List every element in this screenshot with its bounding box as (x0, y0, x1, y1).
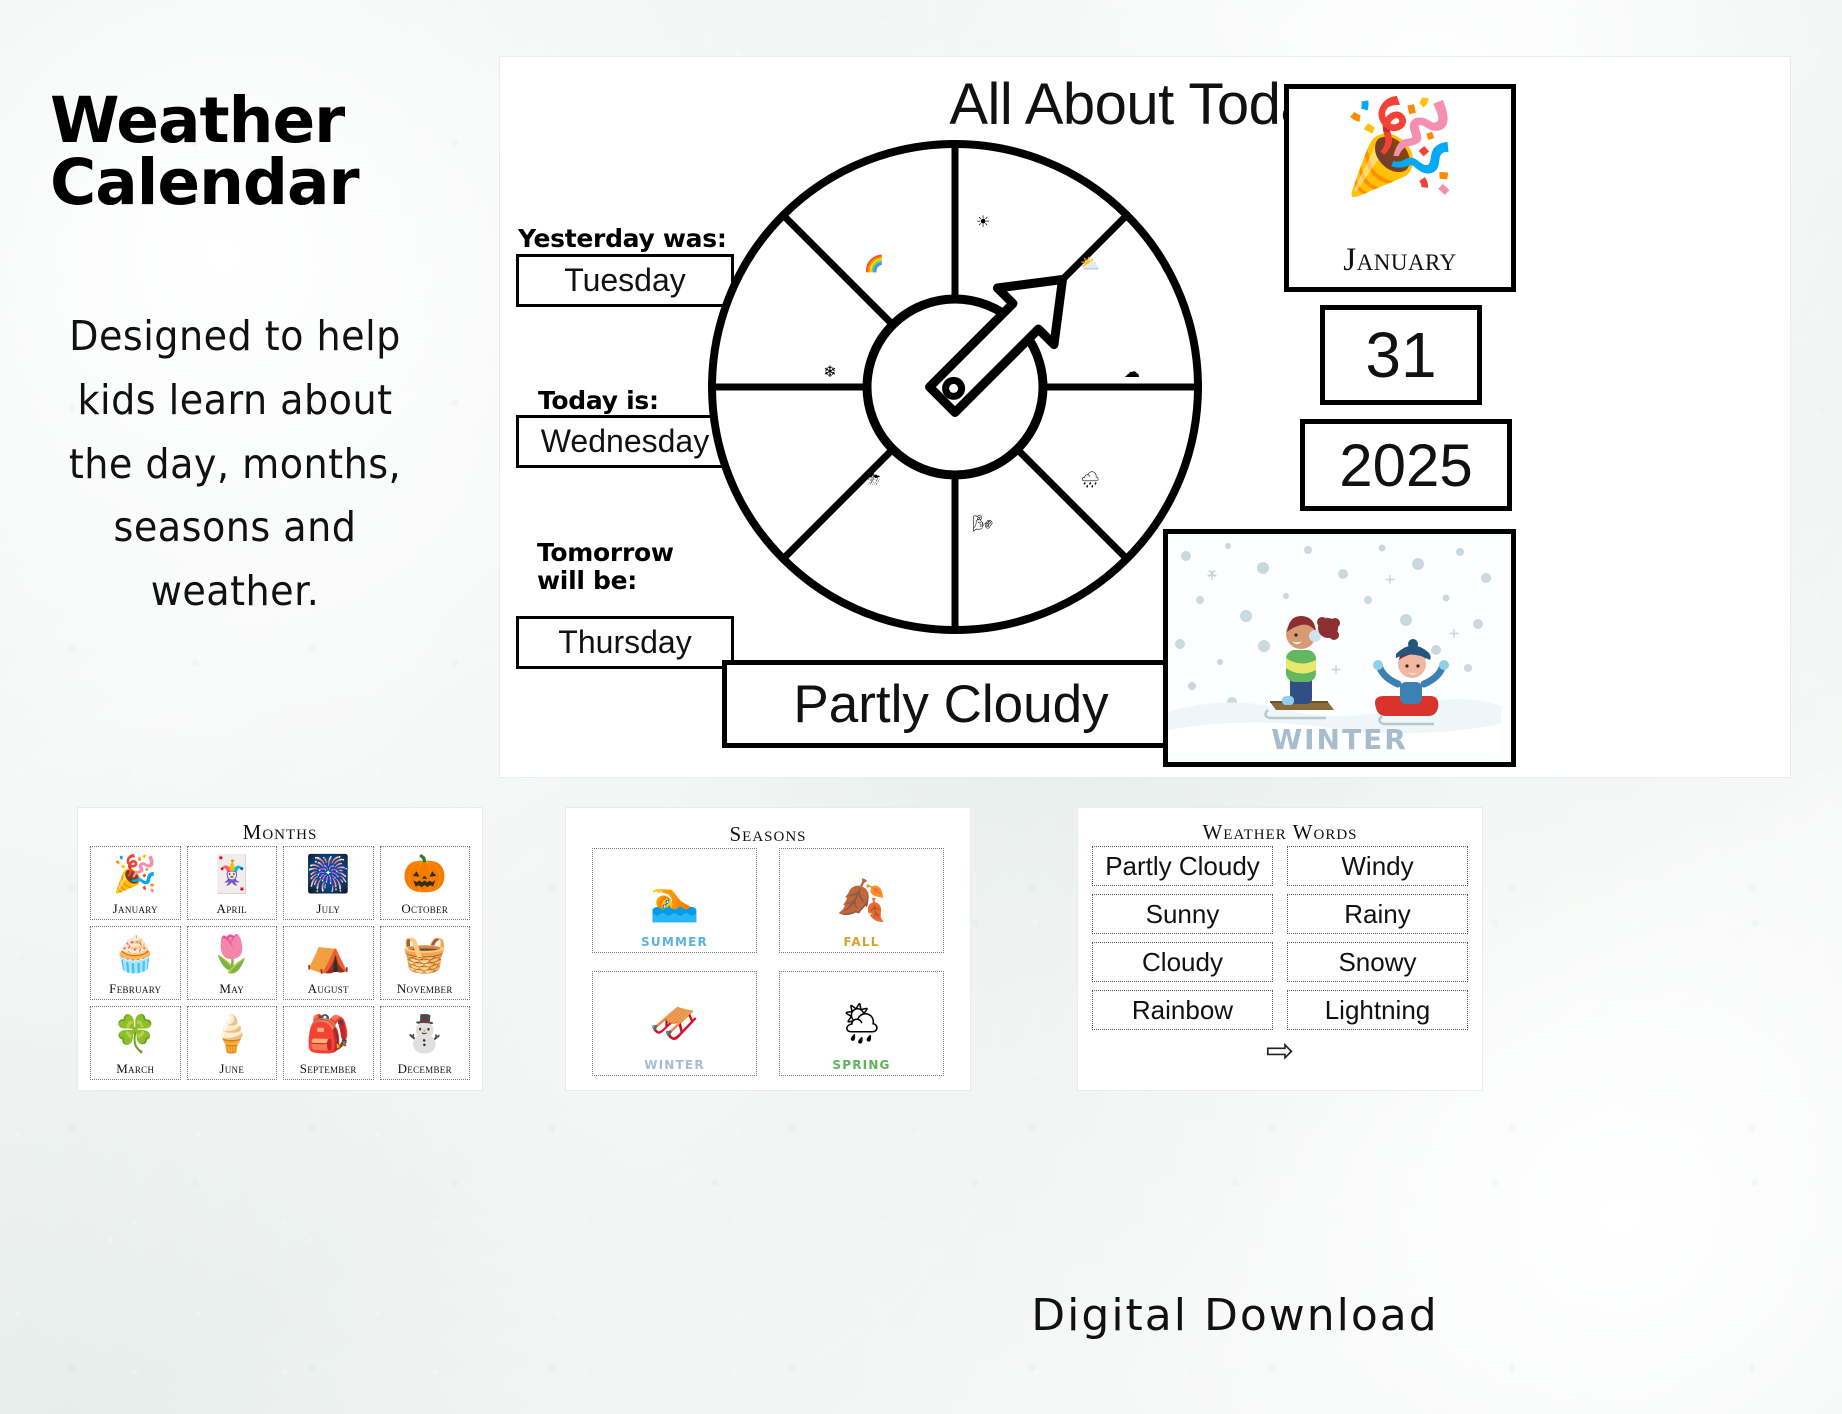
weather-words-grid: Partly Cloudy Windy Sunny Rainy Cloudy S… (1092, 846, 1468, 1030)
today-value[interactable]: Wednesday (516, 415, 734, 468)
months-panel: Months 🎉January 🃏April 🎆July 🎃October 🧁F… (78, 808, 482, 1090)
months-panel-title: Months (78, 820, 482, 845)
today-label: Today is: (538, 387, 659, 415)
month-cell[interactable]: 🎉January (90, 846, 181, 920)
yesterday-value[interactable]: Tuesday (516, 254, 734, 307)
month-cell[interactable]: 🍦June (187, 1006, 278, 1080)
month-icon: ⛄ (402, 1007, 447, 1061)
spring-icon: 🌦 (836, 1004, 887, 1044)
months-grid: 🎉January 🃏April 🎆July 🎃October 🧁February… (90, 846, 470, 1080)
seasons-panel-title: Seasons (566, 822, 970, 847)
weather-words-panel: Weather Words Partly Cloudy Windy Sunny … (1078, 808, 1482, 1090)
month-cell[interactable]: 🎆July (283, 846, 374, 920)
wheel-icon-rainbow: 🌈 (819, 209, 929, 319)
winter-icon: 🛷 (650, 1004, 700, 1044)
day-number-box[interactable]: 31 (1320, 305, 1482, 405)
yesterday-label: Yesterday was: (518, 225, 727, 253)
month-icon: 🍦 (209, 1007, 254, 1061)
month-icon: ⛺ (306, 927, 351, 981)
wheel-icon-snowy: ❄ (775, 317, 885, 427)
weather-word-card[interactable]: Snowy (1287, 942, 1468, 982)
wheel-icon-partly-cloudy: ⛅ (1035, 209, 1145, 319)
month-icon: 🎃 (402, 847, 447, 901)
month-cell-label: August (308, 981, 349, 997)
year-box[interactable]: 2025 (1300, 419, 1512, 511)
party-popper-icon: 🎉 (1289, 101, 1511, 193)
month-cell-label: June (219, 1061, 244, 1077)
weather-word-card[interactable]: Cloudy (1092, 942, 1273, 982)
month-cell-label: September (300, 1061, 357, 1077)
weather-word-card[interactable]: Lightning (1287, 990, 1468, 1030)
season-cell[interactable]: 🍂FALL (779, 848, 944, 953)
month-cell[interactable]: ⛄December (380, 1006, 471, 1080)
page-title: Weather Calendar (0, 90, 470, 213)
weather-result-box[interactable]: Partly Cloudy (722, 660, 1180, 748)
month-cell-label: October (401, 901, 448, 917)
weather-word-card[interactable]: Windy (1287, 846, 1468, 886)
month-label: January (1289, 242, 1511, 279)
month-cell-label: February (109, 981, 161, 997)
month-cell[interactable]: 🎒September (283, 1006, 374, 1080)
tomorrow-label: Tomorrow will be: (537, 539, 674, 595)
month-cell-label: July (316, 901, 340, 917)
month-cell[interactable]: 🧁February (90, 926, 181, 1000)
month-cell-label: April (217, 901, 247, 917)
month-icon: 🎒 (306, 1007, 351, 1061)
month-cell[interactable]: 🧺November (380, 926, 471, 1000)
month-icon: 🃏 (209, 847, 254, 901)
month-cell[interactable]: 🃏April (187, 846, 278, 920)
page-description: Designed to help kids learn about the da… (16, 305, 453, 623)
weather-word-card[interactable]: Sunny (1092, 894, 1273, 934)
weather-word-card[interactable]: Rainbow (1092, 990, 1273, 1030)
winter-illustration (1168, 534, 1501, 752)
wheel-icon-windy: 🌬 (928, 469, 1038, 579)
weather-words-title: Weather Words (1078, 820, 1482, 845)
tomorrow-value[interactable]: Thursday (516, 616, 734, 669)
month-cell-label: January (113, 901, 158, 917)
weather-word-card[interactable]: Rainy (1287, 894, 1468, 934)
month-icon: 🌷 (209, 927, 254, 981)
arrow-right-icon: ⇨ (1078, 1034, 1482, 1068)
season-label: WINTER (1168, 723, 1511, 756)
season-cell-label: SUMMER (641, 935, 708, 949)
wheel-icon-cloudy: ☁ (1077, 317, 1187, 427)
month-cell-label: November (397, 981, 453, 997)
seasons-grid: 🏊SUMMER 🍂FALL 🛷WINTER 🌦SPRING (592, 848, 944, 1076)
season-cell-label: WINTER (644, 1058, 705, 1072)
month-cell[interactable]: 🍀March (90, 1006, 181, 1080)
month-cell-label: May (219, 981, 244, 997)
month-icon: 🎉 (113, 847, 158, 901)
month-icon: 🧁 (113, 927, 158, 981)
season-card[interactable]: WINTER (1163, 529, 1516, 767)
month-icon: 🍀 (113, 1007, 158, 1061)
month-cell[interactable]: 🌷May (187, 926, 278, 1000)
seasons-panel: Seasons 🏊SUMMER 🍂FALL 🛷WINTER 🌦SPRING (566, 808, 970, 1090)
card-title: All About Today (500, 71, 1790, 138)
wheel-icon-sunny: ☀ (928, 167, 1038, 277)
fall-icon: 🍂 (837, 881, 887, 921)
weather-word-card[interactable]: Partly Cloudy (1092, 846, 1273, 886)
all-about-today-card: All About Today Yesterday was: Tuesday T… (500, 57, 1790, 777)
season-cell[interactable]: 🌦SPRING (779, 971, 944, 1076)
month-card[interactable]: 🎉 January (1284, 84, 1516, 292)
month-icon: 🧺 (402, 927, 447, 981)
wheel-icon-rainy: 🌧 (1035, 425, 1145, 535)
season-cell-label: SPRING (832, 1058, 890, 1072)
month-icon: 🎆 (306, 847, 351, 901)
summer-icon: 🏊 (650, 881, 700, 921)
season-cell-label: FALL (843, 935, 879, 949)
season-cell[interactable]: 🛷WINTER (592, 971, 757, 1076)
month-cell-label: December (398, 1061, 452, 1077)
weather-wheel[interactable]: ☀ ⛅ ☁ 🌧 🌬 ⛈ ❄ 🌈 (705, 137, 1205, 637)
month-cell[interactable]: ⛺August (283, 926, 374, 1000)
wheel-icon-lightning: ⛈ (819, 425, 929, 535)
digital-download-label: Digital Download (975, 1290, 1495, 1341)
left-intro-column: Weather Calendar Designed to help kids l… (0, 90, 470, 623)
month-cell[interactable]: 🎃October (380, 846, 471, 920)
season-cell[interactable]: 🏊SUMMER (592, 848, 757, 953)
month-cell-label: March (116, 1061, 154, 1077)
